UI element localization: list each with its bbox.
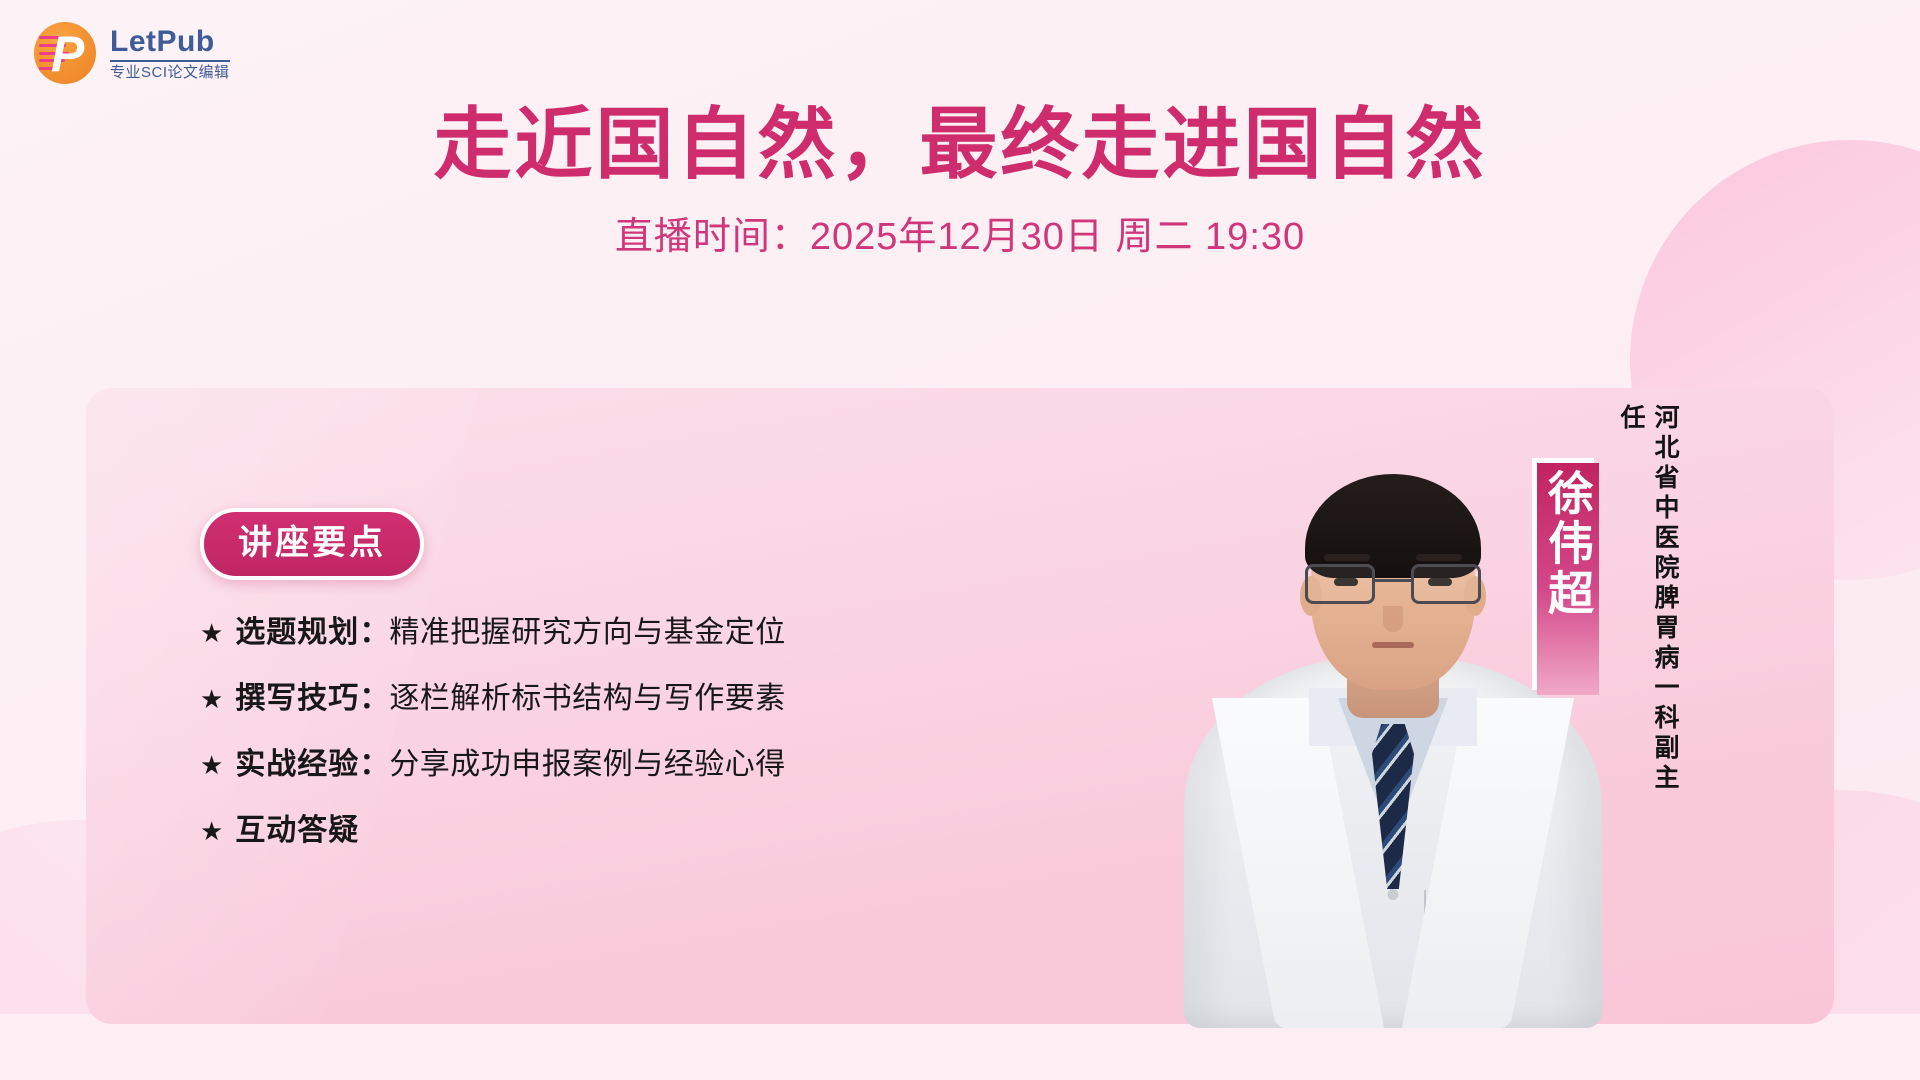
brand-tagline: 专业SCI论文编辑 [110, 64, 230, 81]
highlights-badge: 讲座要点 [200, 508, 424, 580]
mouth [1372, 642, 1414, 648]
list-item-key: 选题规划 [235, 612, 359, 654]
list-item-desc: 分享成功申报案例与经验心得 [389, 744, 786, 786]
speaker-name-banner: 徐伟超 [1537, 463, 1599, 695]
eyebrow-right [1416, 554, 1462, 561]
speaker-credentials: 河北省中医院脾胃病一科副主任 [1614, 404, 1682, 804]
coat-button [1388, 889, 1399, 900]
letpub-logo[interactable]: P LetPub 专业SCI论文编辑 [34, 22, 230, 84]
list-item: ★ 选题规划 ： 精准把握研究方向与基金定位 [200, 612, 786, 654]
lens-left [1305, 564, 1375, 604]
list-item-key: 实战经验 [235, 744, 359, 786]
hair [1305, 474, 1481, 578]
logo-letter: P [51, 26, 82, 82]
list-item-key: 撰写技巧 [235, 678, 359, 720]
speaker-name: 徐伟超 [1538, 469, 1598, 619]
list-item: ★ 撰写技巧 ： 逐栏解析标书结构与写作要素 [200, 678, 786, 720]
logo-wordmark: LetPub 专业SCI论文编辑 [110, 26, 230, 81]
list-item-separator: ： [359, 612, 389, 654]
eyeglasses-icon [1305, 564, 1481, 606]
list-item-desc: 精准把握研究方向与基金定位 [389, 612, 786, 654]
letpub-logo-icon: P [34, 22, 96, 84]
list-item-separator: ： [359, 678, 389, 720]
list-item-key: 互动答疑 [235, 810, 359, 852]
list-item: ★ 互动答疑 [200, 810, 786, 852]
nose [1383, 606, 1403, 632]
list-item-desc: 逐栏解析标书结构与写作要素 [389, 678, 786, 720]
list-item-separator: ： [359, 744, 389, 786]
list-item: ★ 实战经验 ： 分享成功申报案例与经验心得 [200, 744, 786, 786]
star-icon: ★ [200, 810, 223, 852]
star-icon: ★ [200, 744, 223, 786]
star-icon: ★ [200, 612, 223, 654]
logo-divider [110, 60, 230, 62]
star-icon: ★ [200, 678, 223, 720]
brand-name: LetPub [110, 26, 230, 58]
page-title: 走近国自然，最终走进国自然 [0, 96, 1920, 192]
glasses-bridge [1375, 579, 1411, 582]
highlights-list: ★ 选题规划 ： 精准把握研究方向与基金定位 ★ 撰写技巧 ： 逐栏解析标书结构… [200, 612, 786, 852]
lens-right [1411, 564, 1481, 604]
live-time-subtitle: 直播时间：2025年12月30日 周二 19:30 [0, 205, 1920, 260]
eyebrow-left [1324, 554, 1370, 561]
highlights-badge-wrapper: 讲座要点 [200, 508, 424, 580]
